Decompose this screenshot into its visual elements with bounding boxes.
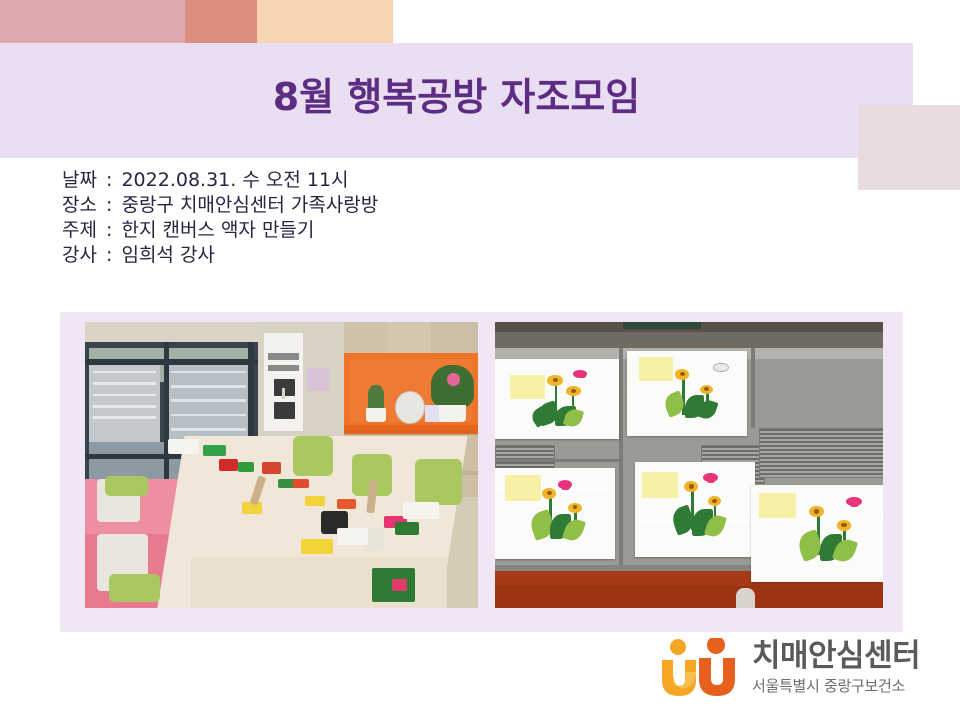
info-label-instructor: 강사	[62, 244, 97, 266]
info-row-place: 장소 : 중랑구 치매안심센터 가족사랑방	[62, 193, 378, 218]
finished-artworks-photo	[495, 322, 883, 608]
info-label-date: 날짜	[62, 169, 97, 191]
info-list: 날짜 : 2022.08.31. 수 오전 11시 장소 : 중랑구 치매안심센…	[62, 168, 378, 268]
logo-text-block: 치매안심센터 서울특별시 중랑구보건소	[752, 638, 920, 696]
info-value-instructor: 임희석 강사	[121, 244, 214, 266]
artwork-4	[635, 462, 755, 556]
sticky-note	[759, 493, 796, 518]
info-value-date: 2022.08.31. 수 오전 11시	[121, 169, 348, 191]
page-title: 8월 행복공방 자조모임	[0, 75, 913, 119]
sticky-note	[510, 375, 545, 399]
artwork-5	[751, 485, 883, 582]
sticky-note	[505, 475, 541, 501]
logo-sub-text: 서울특별시 중랑구보건소	[752, 676, 920, 696]
artwork-2	[627, 351, 747, 437]
info-separator: :	[103, 169, 115, 191]
sticky-note	[642, 472, 678, 498]
info-row-date: 날짜 : 2022.08.31. 수 오전 11시	[62, 168, 378, 193]
workshop-session-photo	[85, 322, 478, 608]
info-row-topic: 주제 : 한지 캔버스 액자 만들기	[62, 218, 378, 243]
sticky-note	[639, 357, 673, 381]
info-value-topic: 한지 캔버스 액자 만들기	[121, 219, 314, 241]
info-label-topic: 주제	[62, 219, 97, 241]
info-value-place: 중랑구 치매안심센터 가족사랑방	[121, 194, 378, 216]
slide-root: 8월 행복공방 자조모임 날짜 : 2022.08.31. 수 오전 11시 장…	[0, 0, 960, 720]
info-row-instructor: 강사 : 임희석 강사	[62, 243, 378, 268]
info-separator: :	[103, 194, 115, 216]
info-separator: :	[103, 244, 115, 266]
logo-main-text: 치매안심센터	[752, 638, 920, 674]
organization-logo: 치매안심센터 서울특별시 중랑구보건소	[652, 636, 952, 712]
artwork-1	[495, 359, 619, 439]
butterfly	[713, 363, 728, 373]
dementia-center-logo-icon	[652, 638, 748, 704]
info-separator: :	[103, 219, 115, 241]
info-label-place: 장소	[62, 194, 97, 216]
artwork-3	[495, 468, 615, 560]
